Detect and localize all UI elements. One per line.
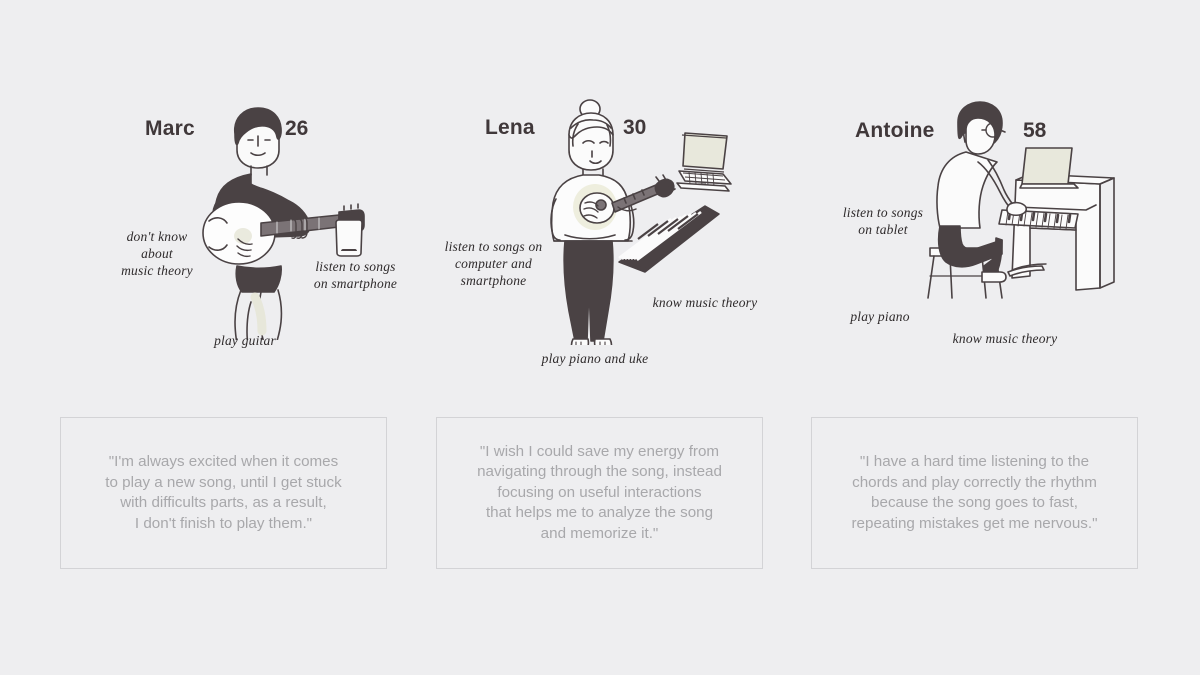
midi-keyboard-icon: [613, 202, 723, 287]
annotation-play-piano: play piano: [810, 308, 950, 325]
personas-board: Marc 26: [0, 0, 1200, 675]
annotation-know-music-theory: know music theory: [615, 294, 795, 311]
quote-text: "I wish I could save my energy from navi…: [467, 442, 732, 545]
annotation-listen-computer-smartphone: listen to songs on computer and smartpho…: [416, 238, 571, 289]
smartphone-icon: [334, 217, 364, 264]
quote-box-marc: "I'm always excited when it comes to pla…: [60, 417, 387, 569]
quote-text: "I have a hard time listening to the cho…: [842, 452, 1108, 534]
quote-box-lena: "I wish I could save my energy from navi…: [436, 417, 763, 569]
annotation-know-music-theory: know music theory: [910, 330, 1100, 347]
quote-text: "I'm always excited when it comes to pla…: [95, 452, 351, 534]
annotation-listen-tablet: listen to songs on tablet: [818, 204, 948, 238]
annotation-no-music-theory: don't know about music theory: [92, 228, 222, 279]
annotation-play-guitar: play guitar: [180, 332, 310, 349]
annotation-play-piano-uke: play piano and uke: [505, 350, 685, 367]
illustration-piano-player: [920, 100, 1130, 305]
persona-name: Lena: [485, 116, 535, 140]
quote-box-antoine: "I have a hard time listening to the cho…: [811, 417, 1138, 569]
persona-card-marc: Marc 26: [40, 0, 420, 400]
laptop-icon: [663, 125, 735, 202]
annotation-listen-smartphone: listen to songs on smartphone: [283, 258, 428, 292]
persona-card-antoine: Antoine 58: [790, 0, 1180, 400]
persona-card-lena: Lena 30: [415, 0, 795, 400]
